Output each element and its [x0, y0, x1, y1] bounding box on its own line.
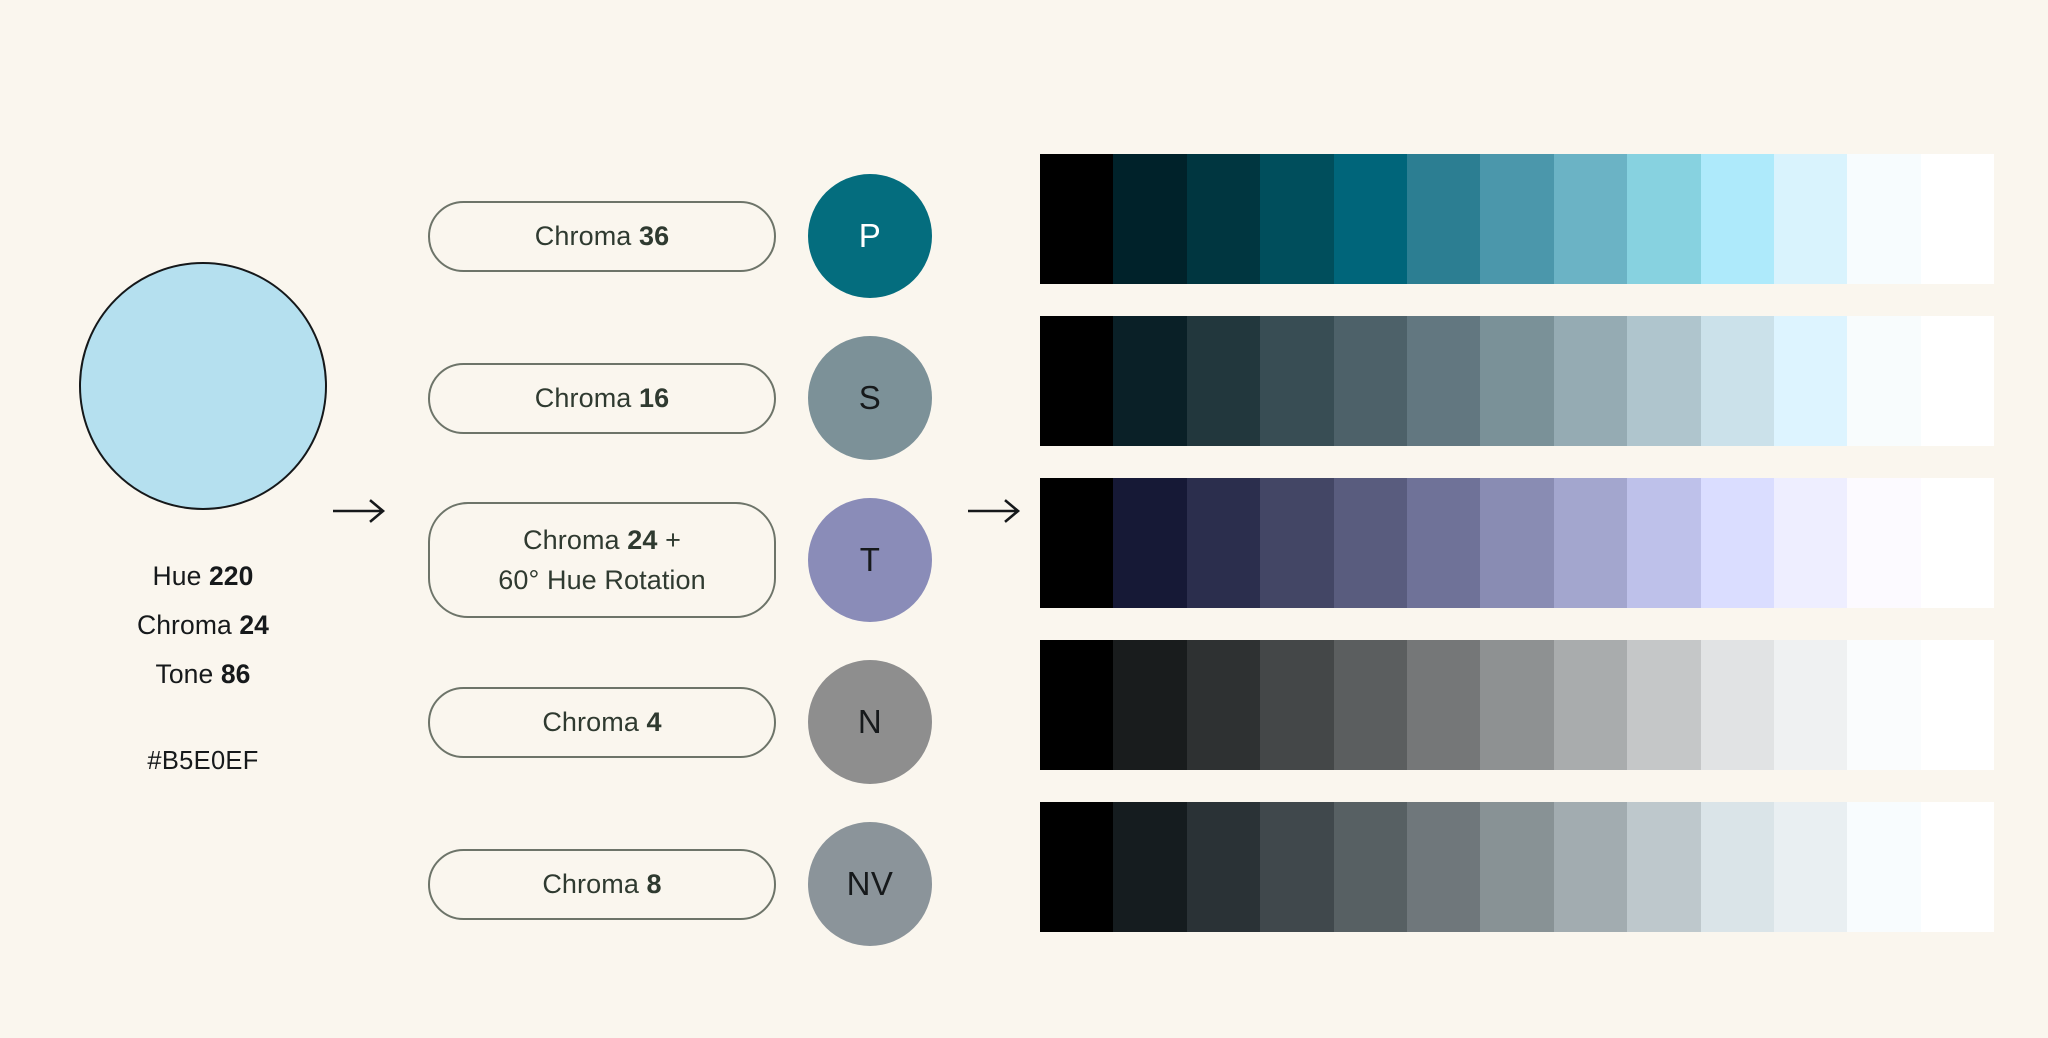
- ramp-swatch[interactable]: [1260, 478, 1333, 608]
- arrow-right-icon: [333, 498, 389, 524]
- role-circle-neutral-variant[interactable]: NV: [808, 822, 932, 946]
- chroma-pill-line-1: Chroma 36: [535, 221, 669, 251]
- ramp-swatch[interactable]: [1847, 802, 1920, 932]
- ramp-swatch[interactable]: [1554, 478, 1627, 608]
- ramp-swatch[interactable]: [1334, 802, 1407, 932]
- role-row: S: [808, 317, 932, 479]
- chroma-pill-tertiary[interactable]: Chroma 24 +60° Hue Rotation: [428, 502, 776, 618]
- ramp-swatch[interactable]: [1040, 478, 1113, 608]
- chroma-pill-line-2: 60° Hue Rotation: [498, 565, 706, 595]
- source-color-swatch: [79, 262, 327, 510]
- ramp-swatch[interactable]: [1260, 154, 1333, 284]
- chroma-pill-prefix: Chroma: [523, 525, 627, 555]
- chroma-pill-value: 16: [639, 383, 669, 413]
- ramp-row: [1040, 624, 1994, 786]
- tonal-ramp-primary: [1040, 154, 1994, 284]
- source-color-column: Hue 220 Chroma 24 Tone 86 #B5E0EF: [78, 262, 328, 776]
- spec-tone-name: Tone: [155, 659, 220, 689]
- ramp-swatch[interactable]: [1554, 802, 1627, 932]
- ramp-swatch[interactable]: [1407, 316, 1480, 446]
- ramp-swatch[interactable]: [1921, 640, 1994, 770]
- spec-tone-value: 86: [221, 659, 251, 689]
- chroma-pill-label: Chroma 8: [542, 864, 661, 904]
- ramp-swatch[interactable]: [1921, 802, 1994, 932]
- role-circle-label: P: [859, 217, 881, 255]
- tonal-ramp-secondary: [1040, 316, 1994, 446]
- chroma-pill-label: Chroma 36: [535, 216, 669, 256]
- ramp-swatch[interactable]: [1627, 478, 1700, 608]
- chroma-pill-label: Chroma 24 +60° Hue Rotation: [498, 520, 706, 600]
- role-row: N: [808, 641, 932, 803]
- ramp-row: [1040, 462, 1994, 624]
- ramp-swatch[interactable]: [1627, 154, 1700, 284]
- spec-hue-value: 220: [209, 561, 254, 591]
- role-circle-primary[interactable]: P: [808, 174, 932, 298]
- role-circle-tertiary[interactable]: T: [808, 498, 932, 622]
- ramp-swatch[interactable]: [1260, 802, 1333, 932]
- ramp-swatch[interactable]: [1113, 478, 1186, 608]
- tonal-ramp-neutral: [1040, 640, 1994, 770]
- ramp-swatch[interactable]: [1627, 640, 1700, 770]
- ramp-row: [1040, 138, 1994, 300]
- chroma-pill-line-1: Chroma 16: [535, 383, 669, 413]
- spec-tone: Tone 86: [78, 650, 328, 699]
- ramp-swatch[interactable]: [1774, 154, 1847, 284]
- ramp-swatch[interactable]: [1480, 316, 1553, 446]
- chroma-pill-line-1: Chroma 24 +: [523, 525, 681, 555]
- ramp-swatch[interactable]: [1334, 316, 1407, 446]
- tonal-palette-diagram: Hue 220 Chroma 24 Tone 86 #B5E0EF Chroma…: [0, 0, 2048, 1038]
- source-color-specs: Hue 220 Chroma 24 Tone 86: [78, 552, 328, 699]
- role-circle-label: N: [858, 703, 882, 741]
- role-row: NV: [808, 803, 932, 965]
- role-circle-label: T: [860, 541, 881, 579]
- pill-row: Chroma 4: [428, 641, 776, 803]
- ramp-swatch[interactable]: [1847, 640, 1920, 770]
- ramp-swatch[interactable]: [1480, 154, 1553, 284]
- ramp-swatch[interactable]: [1040, 802, 1113, 932]
- ramp-swatch[interactable]: [1407, 154, 1480, 284]
- tonal-ramp-column: [1040, 138, 1994, 948]
- ramp-swatch[interactable]: [1113, 802, 1186, 932]
- role-circle-label: S: [859, 379, 881, 417]
- ramp-swatch[interactable]: [1040, 154, 1113, 284]
- ramp-swatch[interactable]: [1334, 640, 1407, 770]
- ramp-swatch[interactable]: [1921, 316, 1994, 446]
- chroma-pill-prefix: Chroma: [542, 707, 646, 737]
- ramp-swatch[interactable]: [1774, 478, 1847, 608]
- ramp-swatch[interactable]: [1627, 316, 1700, 446]
- pill-row: Chroma 24 +60° Hue Rotation: [428, 479, 776, 641]
- chroma-pill-neutral[interactable]: Chroma 4: [428, 687, 776, 758]
- role-circle-secondary[interactable]: S: [808, 336, 932, 460]
- ramp-swatch[interactable]: [1554, 316, 1627, 446]
- pill-row: Chroma 8: [428, 803, 776, 965]
- ramp-swatch[interactable]: [1407, 478, 1480, 608]
- ramp-swatch[interactable]: [1113, 316, 1186, 446]
- ramp-swatch[interactable]: [1040, 316, 1113, 446]
- spec-chroma-value: 24: [239, 610, 269, 640]
- ramp-swatch[interactable]: [1407, 640, 1480, 770]
- role-circle-label: NV: [847, 865, 894, 903]
- ramp-swatch[interactable]: [1774, 640, 1847, 770]
- ramp-swatch[interactable]: [1554, 640, 1627, 770]
- ramp-row: [1040, 300, 1994, 462]
- ramp-swatch[interactable]: [1480, 640, 1553, 770]
- ramp-swatch[interactable]: [1701, 802, 1774, 932]
- role-row: T: [808, 479, 932, 641]
- ramp-row: [1040, 786, 1994, 948]
- ramp-swatch[interactable]: [1701, 478, 1774, 608]
- ramp-swatch[interactable]: [1113, 154, 1186, 284]
- ramp-swatch[interactable]: [1187, 640, 1260, 770]
- chroma-pill-prefix: Chroma: [535, 383, 639, 413]
- ramp-swatch[interactable]: [1774, 802, 1847, 932]
- chroma-pill-line-1: Chroma 8: [542, 869, 661, 899]
- ramp-swatch[interactable]: [1774, 316, 1847, 446]
- ramp-swatch[interactable]: [1260, 640, 1333, 770]
- arrow-right-icon: [968, 498, 1024, 524]
- chroma-pill-value: 4: [647, 707, 662, 737]
- ramp-swatch[interactable]: [1407, 802, 1480, 932]
- chroma-pill-line-1: Chroma 4: [542, 707, 661, 737]
- role-circle-column: PSTNNV: [808, 155, 932, 965]
- chroma-pill-prefix: Chroma: [542, 869, 646, 899]
- spec-hue: Hue 220: [78, 552, 328, 601]
- role-row: P: [808, 155, 932, 317]
- ramp-swatch[interactable]: [1040, 640, 1113, 770]
- chroma-pill-value: 36: [639, 221, 669, 251]
- chroma-pill-primary[interactable]: Chroma 36: [428, 201, 776, 272]
- chroma-pill-label: Chroma 4: [542, 702, 661, 742]
- chroma-pill-value: 8: [647, 869, 662, 899]
- ramp-swatch[interactable]: [1334, 478, 1407, 608]
- ramp-swatch[interactable]: [1260, 316, 1333, 446]
- ramp-swatch[interactable]: [1847, 316, 1920, 446]
- chroma-pill-suffix: +: [657, 525, 680, 555]
- chroma-pill-neutral-variant[interactable]: Chroma 8: [428, 849, 776, 920]
- ramp-swatch[interactable]: [1480, 802, 1553, 932]
- role-circle-neutral[interactable]: N: [808, 660, 932, 784]
- ramp-swatch[interactable]: [1480, 478, 1553, 608]
- ramp-swatch[interactable]: [1187, 802, 1260, 932]
- source-hex-label: #B5E0EF: [78, 747, 328, 776]
- ramp-swatch[interactable]: [1627, 802, 1700, 932]
- ramp-swatch[interactable]: [1847, 154, 1920, 284]
- ramp-swatch[interactable]: [1187, 316, 1260, 446]
- ramp-swatch[interactable]: [1187, 478, 1260, 608]
- pill-row: Chroma 16: [428, 317, 776, 479]
- chroma-pill-label: Chroma 16: [535, 378, 669, 418]
- chroma-pill-secondary[interactable]: Chroma 16: [428, 363, 776, 434]
- ramp-swatch[interactable]: [1701, 154, 1774, 284]
- spec-hue-name: Hue: [153, 561, 209, 591]
- ramp-swatch[interactable]: [1187, 154, 1260, 284]
- ramp-swatch[interactable]: [1701, 640, 1774, 770]
- tonal-ramp-tertiary: [1040, 478, 1994, 608]
- pill-row: Chroma 36: [428, 155, 776, 317]
- ramp-swatch[interactable]: [1554, 154, 1627, 284]
- ramp-swatch[interactable]: [1701, 316, 1774, 446]
- ramp-swatch[interactable]: [1334, 154, 1407, 284]
- ramp-swatch[interactable]: [1113, 640, 1186, 770]
- ramp-swatch[interactable]: [1921, 478, 1994, 608]
- spec-chroma-name: Chroma: [137, 610, 239, 640]
- tonal-ramp-neutral-variant: [1040, 802, 1994, 932]
- ramp-swatch[interactable]: [1847, 478, 1920, 608]
- ramp-swatch[interactable]: [1921, 154, 1994, 284]
- chroma-pill-column: Chroma 36Chroma 16Chroma 24 +60° Hue Rot…: [428, 155, 776, 965]
- chroma-pill-value: 24: [627, 525, 657, 555]
- spec-chroma: Chroma 24: [78, 601, 328, 650]
- chroma-pill-prefix: Chroma: [535, 221, 639, 251]
